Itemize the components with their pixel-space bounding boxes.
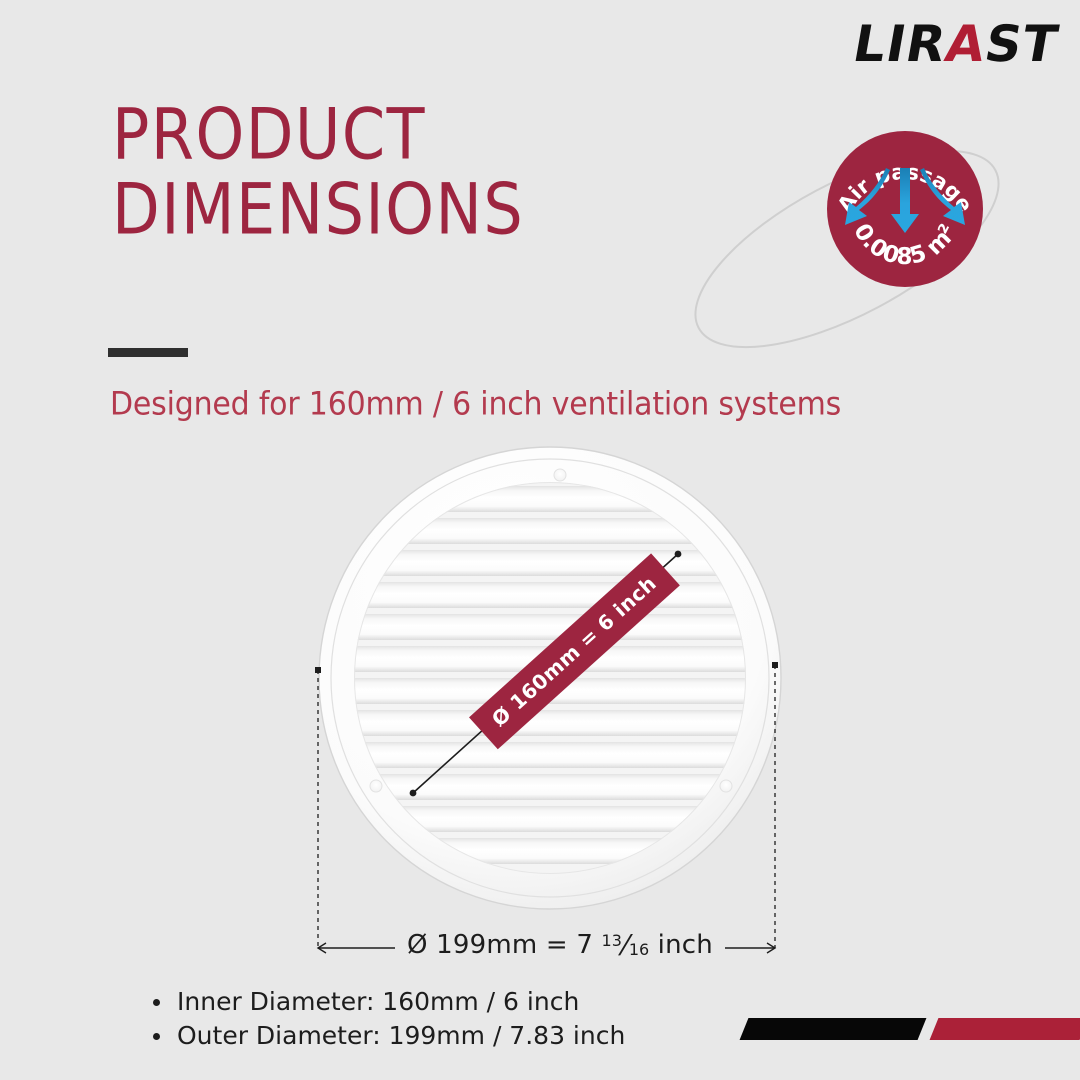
air-passage-badge: Air passage 0.0085 m² <box>826 130 984 288</box>
spec-list: Inner Diameter: 160mm / 6 inch Outer Dia… <box>145 985 625 1053</box>
footer-accent-bars <box>744 1018 1064 1040</box>
accent-bar-red <box>930 1018 1080 1040</box>
page-title: PRODUCT DIMENSIONS <box>112 98 752 236</box>
brand-logo: LIRAST <box>849 16 1063 72</box>
accent-bar-dark <box>740 1018 927 1040</box>
outer-dim-denominator: 16 <box>629 940 649 959</box>
outer-dim-suffix: inch <box>649 930 713 960</box>
list-item: Inner Diameter: 160mm / 6 inch <box>145 985 625 1019</box>
list-item: Outer Diameter: 199mm / 7.83 inch <box>145 1019 625 1053</box>
logo-text-part1: LIR <box>850 19 951 69</box>
infographic-page: LIRAST PRODUCT DIMENSIONS Air passage <box>0 0 1080 1080</box>
section-divider <box>108 348 188 357</box>
subtitle: Designed for 160mm / 6 inch ventilation … <box>110 386 841 423</box>
outer-dim-numerator: 13 <box>602 931 622 950</box>
outer-dim-prefix: Ø 199mm = 7 <box>407 930 602 960</box>
page-title-line-1: PRODUCT <box>112 98 752 170</box>
page-title-line-2: DIMENSIONS <box>112 173 752 245</box>
product-figure: Ø 160mm = 6 inch Ø 199mm = 7 13/16 inch <box>300 430 800 970</box>
outer-diameter-label: Ø 199mm = 7 13/16 inch <box>395 930 725 960</box>
logo-text-part2: ST <box>981 19 1062 69</box>
